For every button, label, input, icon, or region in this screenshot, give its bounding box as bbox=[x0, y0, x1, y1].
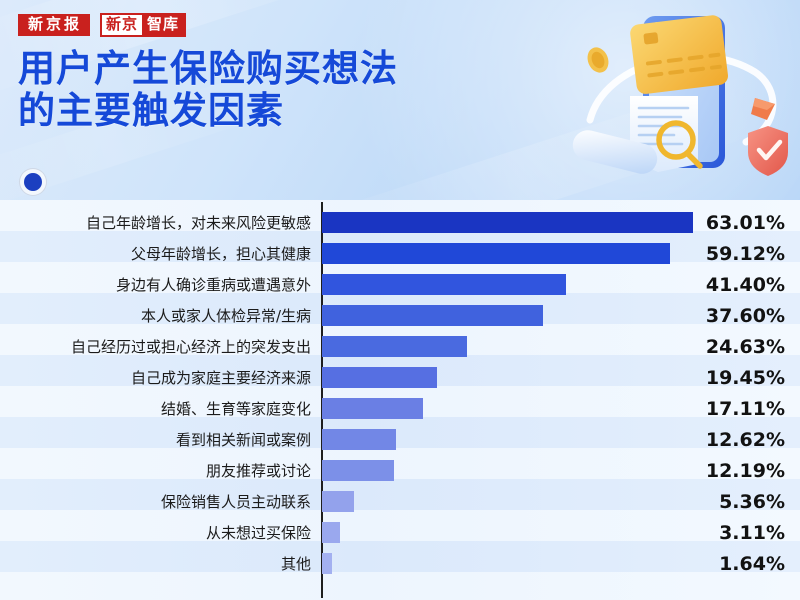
bar[interactable] bbox=[322, 274, 566, 295]
bar-container[interactable] bbox=[322, 274, 566, 295]
chart-row: 身边有人确诊重病或遭遇意外41.40% bbox=[0, 269, 800, 300]
badge-part-b: 智库 bbox=[142, 15, 184, 35]
value-label: 19.45% bbox=[600, 362, 785, 393]
credit-card-icon bbox=[629, 14, 729, 95]
bar[interactable] bbox=[322, 367, 437, 388]
value-label: 12.62% bbox=[600, 424, 785, 455]
bar[interactable] bbox=[322, 336, 467, 357]
receipt-document-icon bbox=[630, 96, 698, 172]
bar-container[interactable] bbox=[322, 367, 437, 388]
value-label: 59.12% bbox=[600, 238, 785, 269]
chart-row: 本人或家人体检异常/生病37.60% bbox=[0, 300, 800, 331]
header-banner: 新京报 新京 智库 用户产生保险购买想法 的主要触发因素 bbox=[0, 0, 800, 200]
capsule-decoration bbox=[570, 127, 661, 177]
bullet-dot-decoration bbox=[20, 169, 46, 195]
badge-beijing-news-think-tank: 新京 智库 bbox=[100, 13, 186, 37]
category-label: 朋友推荐或讨论 bbox=[206, 455, 311, 486]
insurance-illustration bbox=[550, 0, 800, 200]
category-label: 自己成为家庭主要经济来源 bbox=[131, 362, 311, 393]
category-label: 其他 bbox=[281, 548, 311, 579]
bar[interactable] bbox=[322, 305, 543, 326]
category-label: 身边有人确诊重病或遭遇意外 bbox=[116, 269, 311, 300]
bar[interactable] bbox=[322, 398, 423, 419]
magnifier-icon bbox=[659, 123, 700, 166]
bar-container[interactable] bbox=[322, 460, 394, 481]
title-line-2: 的主要触发因素 bbox=[18, 90, 578, 132]
bar-container[interactable] bbox=[322, 336, 467, 357]
bar[interactable] bbox=[322, 491, 354, 512]
chart-row: 父母年龄增长，担心其健康59.12% bbox=[0, 238, 800, 269]
value-label: 5.36% bbox=[600, 486, 785, 517]
category-label: 保险销售人员主动联系 bbox=[161, 486, 311, 517]
category-label: 父母年龄增长，担心其健康 bbox=[131, 238, 311, 269]
value-label: 3.11% bbox=[600, 517, 785, 548]
category-label: 自己年龄增长，对未来风险更敏感 bbox=[86, 207, 311, 238]
page-title: 用户产生保险购买想法 的主要触发因素 bbox=[18, 48, 578, 132]
value-label: 63.01% bbox=[600, 207, 785, 238]
badge-part-a: 新京 bbox=[102, 15, 142, 35]
bar-container[interactable] bbox=[322, 398, 423, 419]
value-label: 37.60% bbox=[600, 300, 785, 331]
category-label: 结婚、生育等家庭变化 bbox=[161, 393, 311, 424]
chart-row: 从未想过买保险3.11% bbox=[0, 517, 800, 548]
bar[interactable] bbox=[322, 522, 340, 543]
chart-row: 自己成为家庭主要经济来源19.45% bbox=[0, 362, 800, 393]
smartphone-icon bbox=[643, 16, 725, 168]
bar[interactable] bbox=[322, 553, 332, 574]
chart-row: 保险销售人员主动联系5.36% bbox=[0, 486, 800, 517]
cone-icon bbox=[751, 98, 775, 120]
category-label: 自己经历过或担心经济上的突发支出 bbox=[71, 331, 311, 362]
bar-container[interactable] bbox=[322, 522, 340, 543]
shield-check-icon bbox=[748, 126, 788, 176]
chart-row: 朋友推荐或讨论12.19% bbox=[0, 455, 800, 486]
chart-row: 看到相关新闻或案例12.62% bbox=[0, 424, 800, 455]
value-label: 1.64% bbox=[600, 548, 785, 579]
bar-container[interactable] bbox=[322, 305, 543, 326]
bar-container[interactable] bbox=[322, 491, 354, 512]
orbit-swoosh-icon bbox=[590, 56, 773, 142]
chart-row: 结婚、生育等家庭变化17.11% bbox=[0, 393, 800, 424]
bar[interactable] bbox=[322, 429, 396, 450]
chart-row: 自己年龄增长，对未来风险更敏感63.01% bbox=[0, 207, 800, 238]
infographic-canvas: 新京报 新京 智库 用户产生保险购买想法 的主要触发因素 bbox=[0, 0, 800, 600]
bar-container[interactable] bbox=[322, 553, 332, 574]
value-label: 24.63% bbox=[600, 331, 785, 362]
title-line-1: 用户产生保险购买想法 bbox=[18, 48, 578, 90]
value-label: 41.40% bbox=[600, 269, 785, 300]
bar-chart: 自己年龄增长，对未来风险更敏感63.01%父母年龄增长，担心其健康59.12%身… bbox=[0, 200, 800, 600]
brand-logos: 新京报 新京 智库 bbox=[18, 13, 186, 37]
chart-row: 其他1.64% bbox=[0, 548, 800, 579]
bar[interactable] bbox=[322, 460, 394, 481]
category-label: 从未想过买保险 bbox=[206, 517, 311, 548]
category-label: 看到相关新闻或案例 bbox=[176, 424, 311, 455]
bar-container[interactable] bbox=[322, 429, 396, 450]
value-label: 17.11% bbox=[600, 393, 785, 424]
category-label: 本人或家人体检异常/生病 bbox=[141, 300, 311, 331]
chart-row: 自己经历过或担心经济上的突发支出24.63% bbox=[0, 331, 800, 362]
badge-beijing-news: 新京报 bbox=[18, 14, 90, 36]
value-label: 12.19% bbox=[600, 455, 785, 486]
coin-icon bbox=[584, 44, 612, 76]
